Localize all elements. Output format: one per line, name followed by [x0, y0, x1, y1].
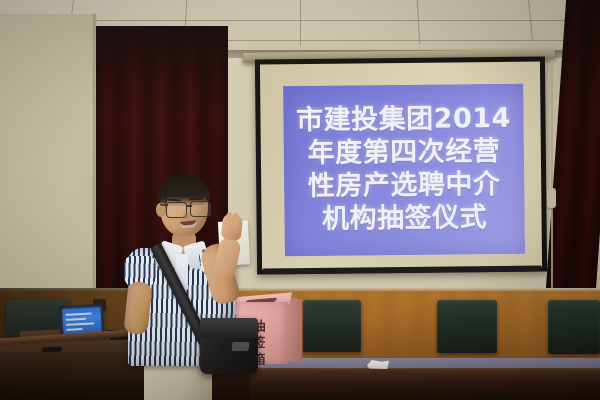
glasses-lens-right — [190, 201, 211, 217]
presenter-nose — [183, 210, 190, 220]
presenter-right-hand — [221, 213, 244, 241]
messenger-bag — [200, 318, 258, 374]
glasses-bridge — [186, 205, 192, 207]
bag-logo — [232, 342, 250, 351]
presenter: 7 — [0, 0, 600, 400]
bag-flap — [200, 318, 258, 338]
photo-scene: 市建投集团2014 年度第四次经营 性房产选聘中介 机构抽签仪式 — [0, 0, 600, 400]
presenter-finger — [233, 213, 239, 226]
